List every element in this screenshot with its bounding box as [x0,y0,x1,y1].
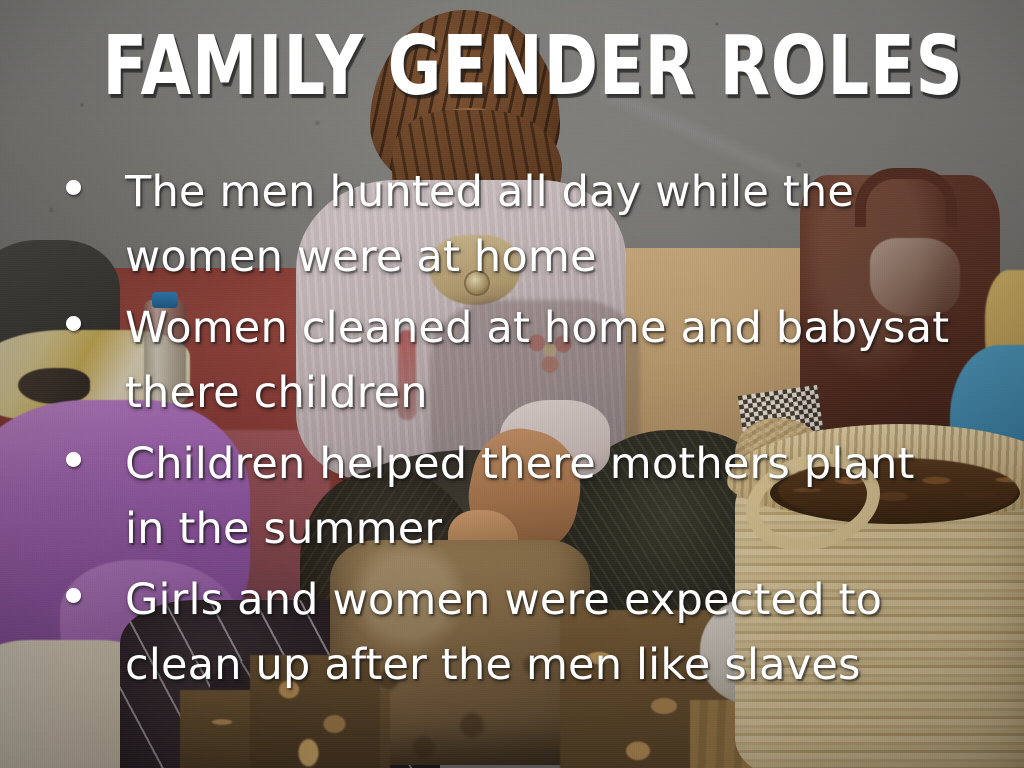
bullet-dot-icon [66,588,81,603]
presentation-slide: FAMILY GENDER ROLES The men hunted all d… [0,0,1024,768]
bullet-dot-icon [66,452,81,467]
list-item: Children helped there mothers plant in t… [52,432,952,562]
bullet-text: Women cleaned at home and babysat there … [125,296,952,426]
slide-content: FAMILY GENDER ROLES The men hunted all d… [0,0,1024,768]
slide-title: FAMILY GENDER ROLES [102,24,921,110]
list-item: Girls and women were expected to clean u… [52,568,952,698]
bullet-text: Children helped there mothers plant in t… [125,432,952,562]
bullet-dot-icon [66,316,81,331]
bullet-text: Girls and women were expected to clean u… [125,568,952,698]
list-item: Women cleaned at home and babysat there … [52,296,952,426]
bullet-dot-icon [66,180,81,195]
list-item: The men hunted all day while the women w… [52,160,952,290]
bullet-text: The men hunted all day while the women w… [125,160,952,290]
bullet-list: The men hunted all day while the women w… [52,160,952,704]
